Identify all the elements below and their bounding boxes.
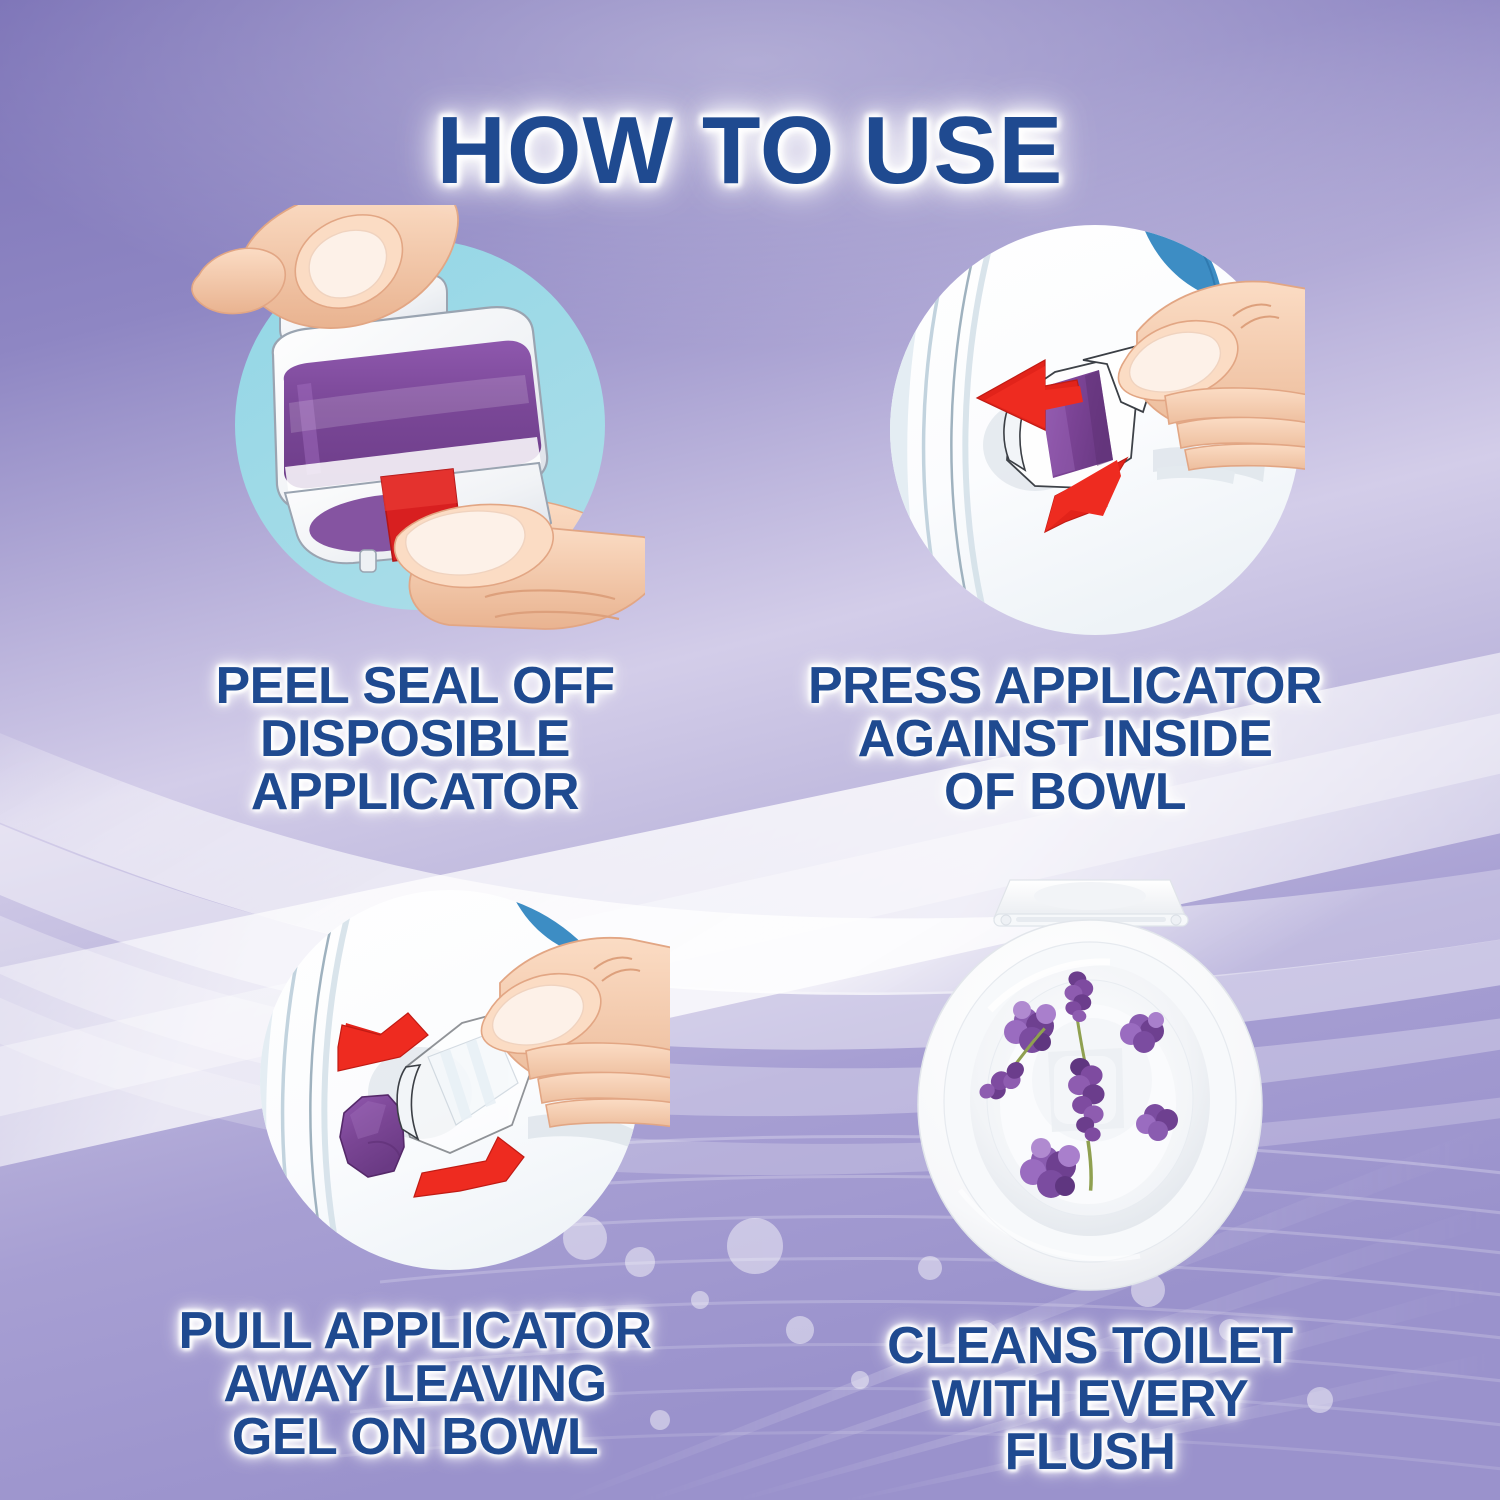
step-3-illustration xyxy=(250,885,670,1305)
step-4-illustration xyxy=(870,870,1310,1300)
step-2-caption: PRESS APPLICATOR AGAINST INSIDE OF BOWL xyxy=(790,660,1340,819)
step-4-caption: CLEANS TOILET WITH EVERY FLUSH xyxy=(845,1320,1335,1479)
step-3-caption: PULL APPLICATOR AWAY LEAVING GEL ON BOWL xyxy=(130,1305,700,1464)
step-1-caption: PEEL SEAL OFF DISPOSIBLE APPLICATOR xyxy=(155,660,675,819)
gel-blob xyxy=(340,1095,404,1177)
step-1-illustration xyxy=(185,205,645,645)
step-2-illustration xyxy=(885,220,1305,640)
page-title: HOW TO USE xyxy=(0,96,1500,206)
